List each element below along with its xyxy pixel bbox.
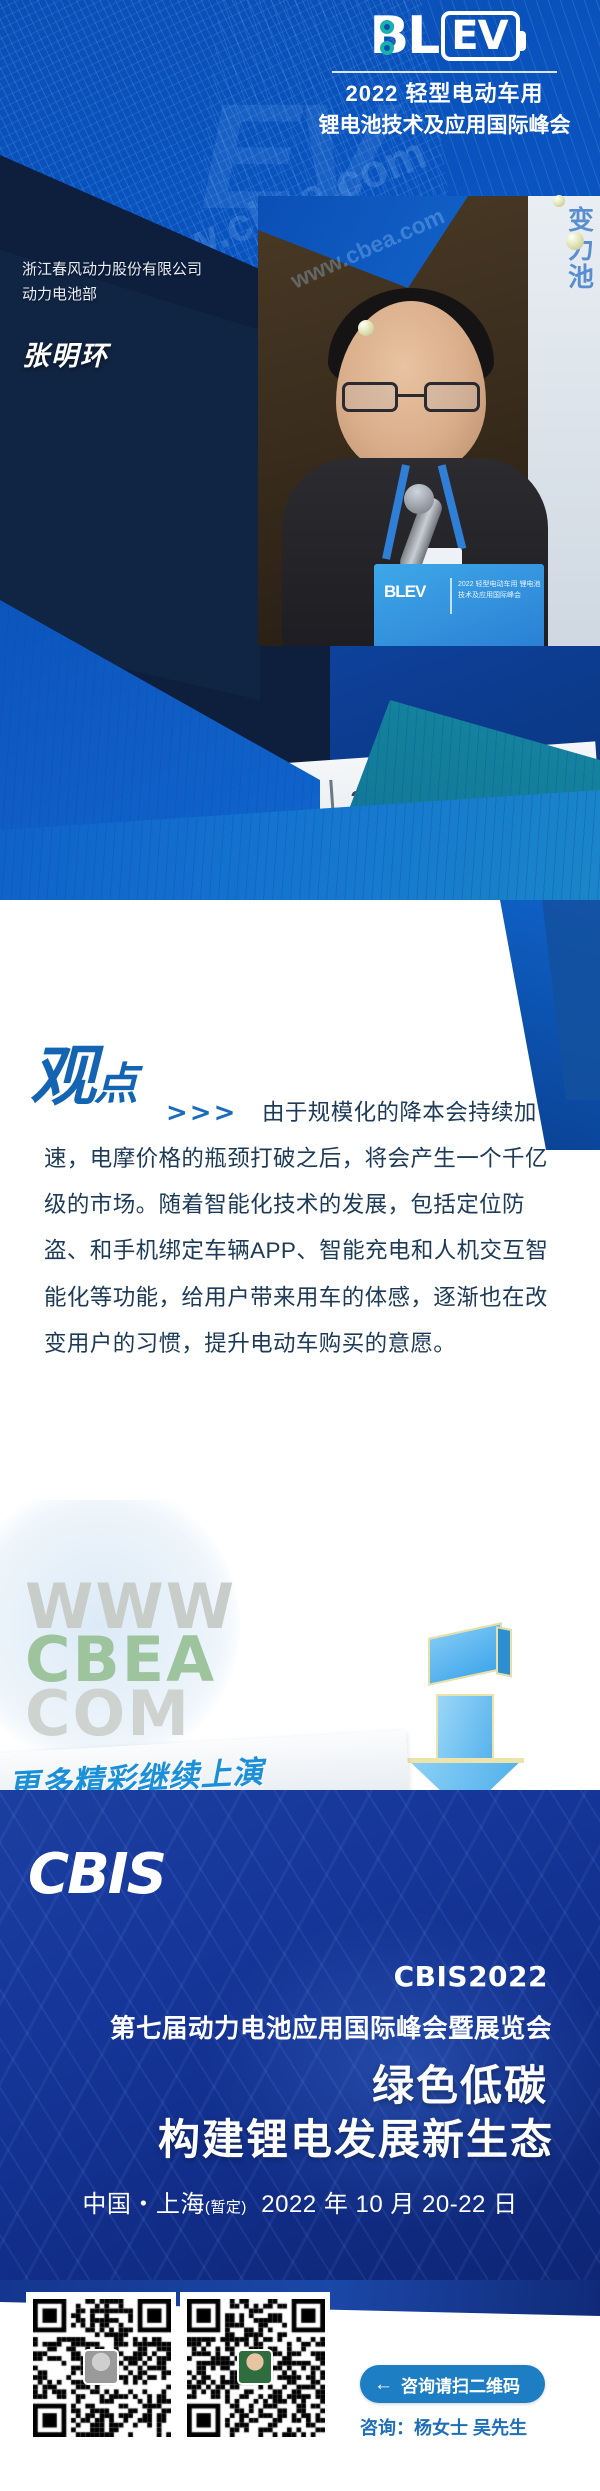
- qr-contact-section: ← 咨询请扫二维码 咨询：杨女士 吴先生: [0, 2280, 600, 2491]
- blev-logo: B L EV: [317, 8, 572, 64]
- footer-location-note: (暂定): [205, 2199, 247, 2216]
- footer-slogan-line1: 绿色低碳: [372, 2052, 548, 2113]
- event-title-line2: 锂电池技术及应用国际峰会: [317, 109, 572, 139]
- scan-qr-label: 咨询请扫二维码: [401, 2372, 520, 2397]
- arrow-cube-icon: [428, 1622, 502, 1686]
- cbis-logo: CBIS: [28, 1842, 165, 1907]
- arrow-left-icon: ←: [374, 2375, 393, 2394]
- glasses-icon: [340, 382, 482, 412]
- placard-logo: BLEV: [384, 582, 425, 602]
- qr-code-1[interactable]: [26, 2292, 176, 2442]
- blev-battery-icon: EV: [441, 11, 519, 61]
- qr-code-2[interactable]: [180, 2292, 330, 2442]
- blev-letter-l: L: [407, 10, 438, 62]
- arrow-shaft: [436, 1694, 494, 1766]
- qr-code-2-avatar: [237, 2349, 273, 2385]
- placard-divider: [450, 578, 452, 614]
- footer-location: 中国・上海: [82, 2191, 205, 2218]
- speaker-organization: 浙江春风动力股份有限公司 动力电池部: [22, 258, 202, 308]
- podium-placard: BLEV 2022 轻型电动车用 锂电池技术及应用国际峰会: [374, 564, 544, 646]
- qr-code-1-avatar: [83, 2349, 119, 2385]
- blev-letters-ev: EV: [451, 13, 507, 59]
- event-brand-block: B L EV 2022 轻型电动车用 锂电池技术及应用国际峰会: [317, 8, 572, 139]
- down-arrow-icon: [418, 1630, 538, 1810]
- event-title-line1: 2022 轻型电动车用: [317, 81, 572, 106]
- blev-letter-b: B: [369, 10, 407, 62]
- contact-line: 咨询：杨女士 吴先生: [360, 2414, 527, 2440]
- brand-divider: [332, 71, 557, 73]
- bubble-decoration-3: [358, 320, 374, 336]
- footer-section: CBIS CBIS2022 第七届动力电池应用国际峰会暨展览会 绿色低碳 构建锂…: [0, 1790, 600, 2335]
- battery-cap-icon: [518, 31, 526, 51]
- hero-section: EV www.cbea.com 变力池 BLEV 2022 轻型电动车用 锂电池…: [0, 0, 600, 940]
- speaker-name: 张明环: [22, 334, 109, 373]
- footer-slogan-line2: 构建锂电发展新生态: [158, 2106, 554, 2167]
- footer-subtitle: 第七届动力电池应用国际峰会暨展览会: [110, 2008, 552, 2045]
- scan-qr-pill[interactable]: ← 咨询请扫二维码: [360, 2365, 545, 2403]
- cbea-watermark: WWW CBEA COM: [25, 1580, 236, 1740]
- footer-date: 2022 年 10 月 20-22 日: [261, 2191, 517, 2218]
- speaker-org-line2: 动力电池部: [22, 283, 202, 308]
- speaker-org-line1: 浙江春风动力股份有限公司: [22, 258, 202, 283]
- poster-root: EV www.cbea.com 变力池 BLEV 2022 轻型电动车用 锂电池…: [0, 0, 600, 2491]
- footer-date-line: 中国・上海(暂定) 2022 年 10 月 20-22 日: [0, 2184, 600, 2219]
- bubble-decoration-2: [566, 232, 584, 250]
- footer-event-code: CBIS2022: [394, 1960, 548, 1993]
- quote-body-text: 由于规模化的降本会持续加速，电摩价格的瓶颈打破之后，将会产生一个千亿级的市场。随…: [44, 1090, 564, 1367]
- arrow-head-edge: [406, 1758, 524, 1763]
- placard-text: 2022 轻型电动车用 锂电池技术及应用国际峰会: [458, 580, 544, 601]
- bubble-decoration-1: [553, 195, 565, 207]
